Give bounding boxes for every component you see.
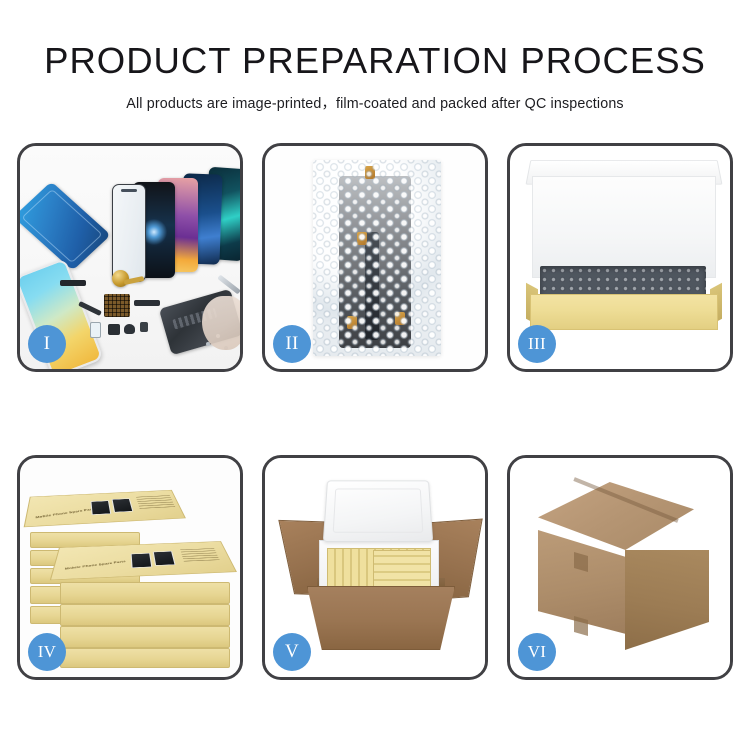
stacked-box-front-3 xyxy=(60,626,230,648)
camera-module-part-1 xyxy=(108,324,120,335)
camera-module-part-2 xyxy=(124,324,135,334)
step-number-badge: III xyxy=(518,325,556,363)
process-step-6[interactable]: VI xyxy=(507,455,733,680)
carton-right-face xyxy=(625,550,709,650)
page-subtitle: All products are image-printed，film-coat… xyxy=(0,80,750,113)
stacked-box-front-2 xyxy=(60,604,230,626)
yellow-boxes-row-2 xyxy=(373,550,431,588)
box-stack: Mobile Phone Spare Parts Mobile Phone Sp… xyxy=(28,474,240,662)
bubble-texture-layer-2 xyxy=(313,160,441,356)
step-number-badge: I xyxy=(28,325,66,363)
process-step-grid: I II xyxy=(17,143,733,680)
carton-tape-mark-bottom xyxy=(574,616,588,636)
box-print-screen-2 xyxy=(153,551,176,566)
box-front-panel xyxy=(530,294,718,330)
stacked-box-front-1 xyxy=(60,582,230,604)
phone-screen-film-tilted xyxy=(20,181,111,270)
box-print-label: Mobile Phone Spare Parts xyxy=(35,507,96,519)
product-preparation-process-infographic: PRODUCT PREPARATION PROCESS All products… xyxy=(0,0,750,750)
box-print-screen-1 xyxy=(90,500,111,515)
stacked-box-printed-rear: Mobile Phone Spare Parts xyxy=(24,490,186,527)
stacked-box-front-4 xyxy=(60,648,230,668)
process-step-1[interactable]: I xyxy=(17,143,243,372)
box-print-textblock xyxy=(136,495,175,509)
step-number-badge: V xyxy=(273,633,311,671)
sim-tray-part xyxy=(90,322,101,338)
process-step-4[interactable]: Mobile Phone Spare Parts Mobile Phone Sp… xyxy=(17,455,243,680)
box-print-label: Mobile Phone Spare Parts xyxy=(65,560,126,571)
process-step-3[interactable]: III xyxy=(507,143,733,372)
ic-chip-part-icon xyxy=(104,294,130,317)
carton-body xyxy=(307,586,455,650)
box-back-panel xyxy=(532,176,716,278)
flex-cable-part-2 xyxy=(134,300,160,306)
process-step-5[interactable]: V xyxy=(262,455,488,680)
page-title: PRODUCT PREPARATION PROCESS xyxy=(0,0,750,80)
header: PRODUCT PREPARATION PROCESS All products… xyxy=(0,0,750,113)
stacked-box-printed-front: Mobile Phone Spare Parts xyxy=(50,541,237,580)
foam-box-lid xyxy=(323,480,433,542)
box-print-textblock xyxy=(180,548,220,562)
button-part xyxy=(140,322,148,332)
box-print-screen-2 xyxy=(112,498,134,512)
step-number-badge: IV xyxy=(28,633,66,671)
process-step-2[interactable]: II xyxy=(262,143,488,372)
box-print-screen-1 xyxy=(131,553,153,568)
speaker-bar-part xyxy=(60,280,86,286)
phone-screen-glass-front xyxy=(112,184,146,282)
bubble-wrap-bag xyxy=(313,160,441,356)
step-number-badge: VI xyxy=(518,633,556,671)
step-number-badge: II xyxy=(273,325,311,363)
